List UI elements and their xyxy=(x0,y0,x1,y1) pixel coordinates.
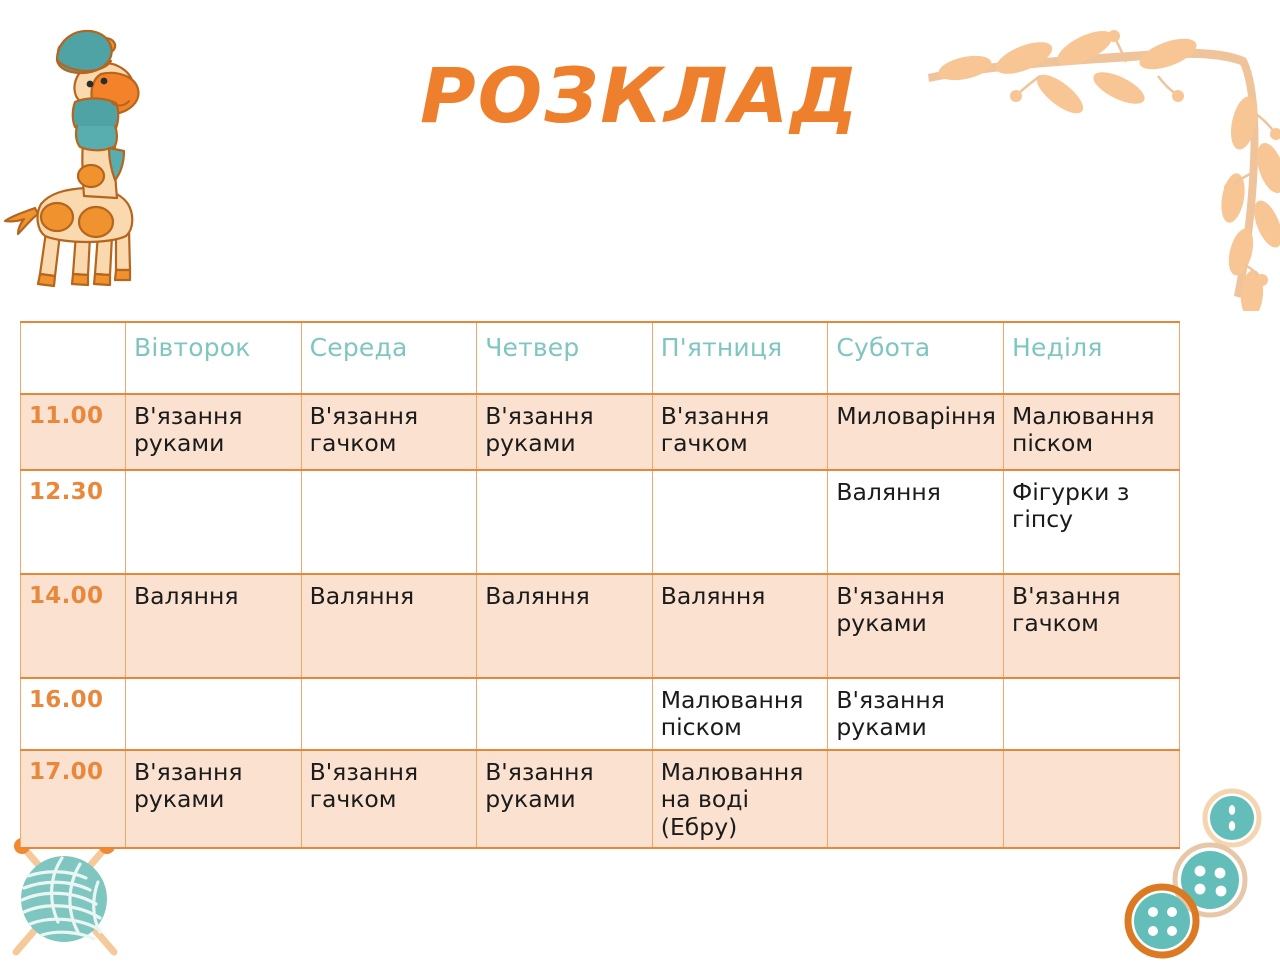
activity-label: Валяння xyxy=(836,479,996,506)
activity-label: Малювання піском xyxy=(661,687,821,742)
header-cell-day-5: Субота xyxy=(828,322,1004,394)
schedule-cell[interactable] xyxy=(652,470,828,574)
schedule-cell[interactable]: Валяння xyxy=(126,574,302,678)
schedule-cell[interactable]: В'язання руками xyxy=(477,394,653,470)
schedule-cell[interactable]: Валяння xyxy=(828,470,1004,574)
activity-label: Малювання піском xyxy=(1012,403,1172,458)
time-cell: 12.30 xyxy=(21,470,126,574)
schedule-cell[interactable] xyxy=(477,470,653,574)
schedule-cell[interactable]: Миловаріння xyxy=(828,394,1004,470)
activity-label: В'язання руками xyxy=(485,403,645,458)
table-row: 11.00 В'язання руками В'язання гачком В'… xyxy=(21,394,1180,470)
schedule-cell[interactable]: В'язання гачком xyxy=(301,750,477,848)
schedule-cell[interactable]: Валяння xyxy=(301,574,477,678)
day-header-label: Вівторок xyxy=(134,333,251,362)
activity-label: Валяння xyxy=(310,583,470,610)
time-cell: 17.00 xyxy=(21,750,126,848)
time-cell: 14.00 xyxy=(21,574,126,678)
activity-label: В'язання гачком xyxy=(1012,583,1172,638)
table-row: 14.00 Валяння Валяння Валяння Валяння В'… xyxy=(21,574,1180,678)
activity-label: Фігурки з гіпсу xyxy=(1012,479,1172,534)
activity-label: В'язання гачком xyxy=(661,403,821,458)
schedule-cell[interactable]: В'язання гачком xyxy=(652,394,828,470)
table-row: 17.00 В'язання руками В'язання гачком В'… xyxy=(21,750,1180,848)
activity-label: В'язання руками xyxy=(134,759,294,814)
schedule-cell[interactable]: В'язання руками xyxy=(477,750,653,848)
time-label: 17.00 xyxy=(29,759,103,785)
day-header-label: Субота xyxy=(836,333,930,362)
schedule-grid: Вівторок Середа Четвер П'ятниця Субота Н… xyxy=(20,321,1180,849)
day-header-label: П'ятниця xyxy=(661,333,783,362)
header-cell-day-3: Четвер xyxy=(477,322,653,394)
activity-label: В'язання руками xyxy=(134,403,294,458)
table-header-row: Вівторок Середа Четвер П'ятниця Субота Н… xyxy=(21,322,1180,394)
schedule-cell[interactable] xyxy=(126,678,302,750)
schedule-cell[interactable]: Малювання піском xyxy=(1003,394,1179,470)
schedule-cell[interactable] xyxy=(1003,678,1179,750)
activity-label: В'язання гачком xyxy=(310,403,470,458)
activity-label: В'язання руками xyxy=(485,759,645,814)
schedule-cell[interactable]: В'язання гачком xyxy=(301,394,477,470)
schedule-cell[interactable] xyxy=(301,470,477,574)
schedule-cell[interactable]: В'язання руками xyxy=(126,750,302,848)
activity-label: В'язання руками xyxy=(836,583,996,638)
time-label: 12.30 xyxy=(29,479,103,505)
yarn-illustration xyxy=(2,836,167,958)
day-header-label: Четвер xyxy=(485,333,579,362)
header-cell-day-4: П'ятниця xyxy=(652,322,828,394)
activity-label: В'язання руками xyxy=(836,687,996,742)
title-text: РОЗКЛАД xyxy=(420,51,860,140)
header-cell-day-2: Середа xyxy=(301,322,477,394)
time-cell: 11.00 xyxy=(21,394,126,470)
schedule-cell[interactable]: Фігурки з гіпсу xyxy=(1003,470,1179,574)
activity-label: В'язання гачком xyxy=(310,759,470,814)
schedule-cell[interactable] xyxy=(1003,750,1179,848)
schedule-cell[interactable] xyxy=(301,678,477,750)
schedule-cell[interactable]: Малювання на воді (Ебру) xyxy=(652,750,828,848)
day-header-label: Середа xyxy=(310,333,408,362)
schedule-cell[interactable]: В'язання гачком xyxy=(1003,574,1179,678)
schedule-cell[interactable]: В'язання руками xyxy=(126,394,302,470)
schedule-cell[interactable] xyxy=(477,678,653,750)
schedule-cell[interactable]: В'язання руками xyxy=(828,574,1004,678)
schedule-table: Вівторок Середа Четвер П'ятниця Субота Н… xyxy=(20,321,1179,849)
activity-label: Миловаріння xyxy=(836,403,996,430)
activity-label: Малювання на воді (Ебру) xyxy=(661,759,821,841)
time-label: 11.00 xyxy=(29,403,103,429)
header-cell-day-1: Вівторок xyxy=(126,322,302,394)
page-title: РОЗКЛАД xyxy=(0,46,1280,158)
schedule-cell[interactable]: Валяння xyxy=(652,574,828,678)
schedule-cell[interactable] xyxy=(126,470,302,574)
activity-label: Валяння xyxy=(134,583,294,610)
schedule-cell[interactable]: В'язання руками xyxy=(828,678,1004,750)
table-row: 12.30 Валяння Фігурки з гіпсу xyxy=(21,470,1180,574)
day-header-label: Неділя xyxy=(1012,333,1103,362)
activity-label: Валяння xyxy=(485,583,645,610)
header-cell-day-6: Неділя xyxy=(1003,322,1179,394)
schedule-cell[interactable]: Валяння xyxy=(477,574,653,678)
table-row: 16.00 Малювання піском В'язання руками xyxy=(21,678,1180,750)
header-corner-cell xyxy=(21,322,126,394)
activity-label: Валяння xyxy=(661,583,821,610)
time-cell: 16.00 xyxy=(21,678,126,750)
schedule-cell[interactable] xyxy=(828,750,1004,848)
schedule-cell[interactable]: Малювання піском xyxy=(652,678,828,750)
time-label: 14.00 xyxy=(29,583,103,609)
time-label: 16.00 xyxy=(29,687,103,713)
